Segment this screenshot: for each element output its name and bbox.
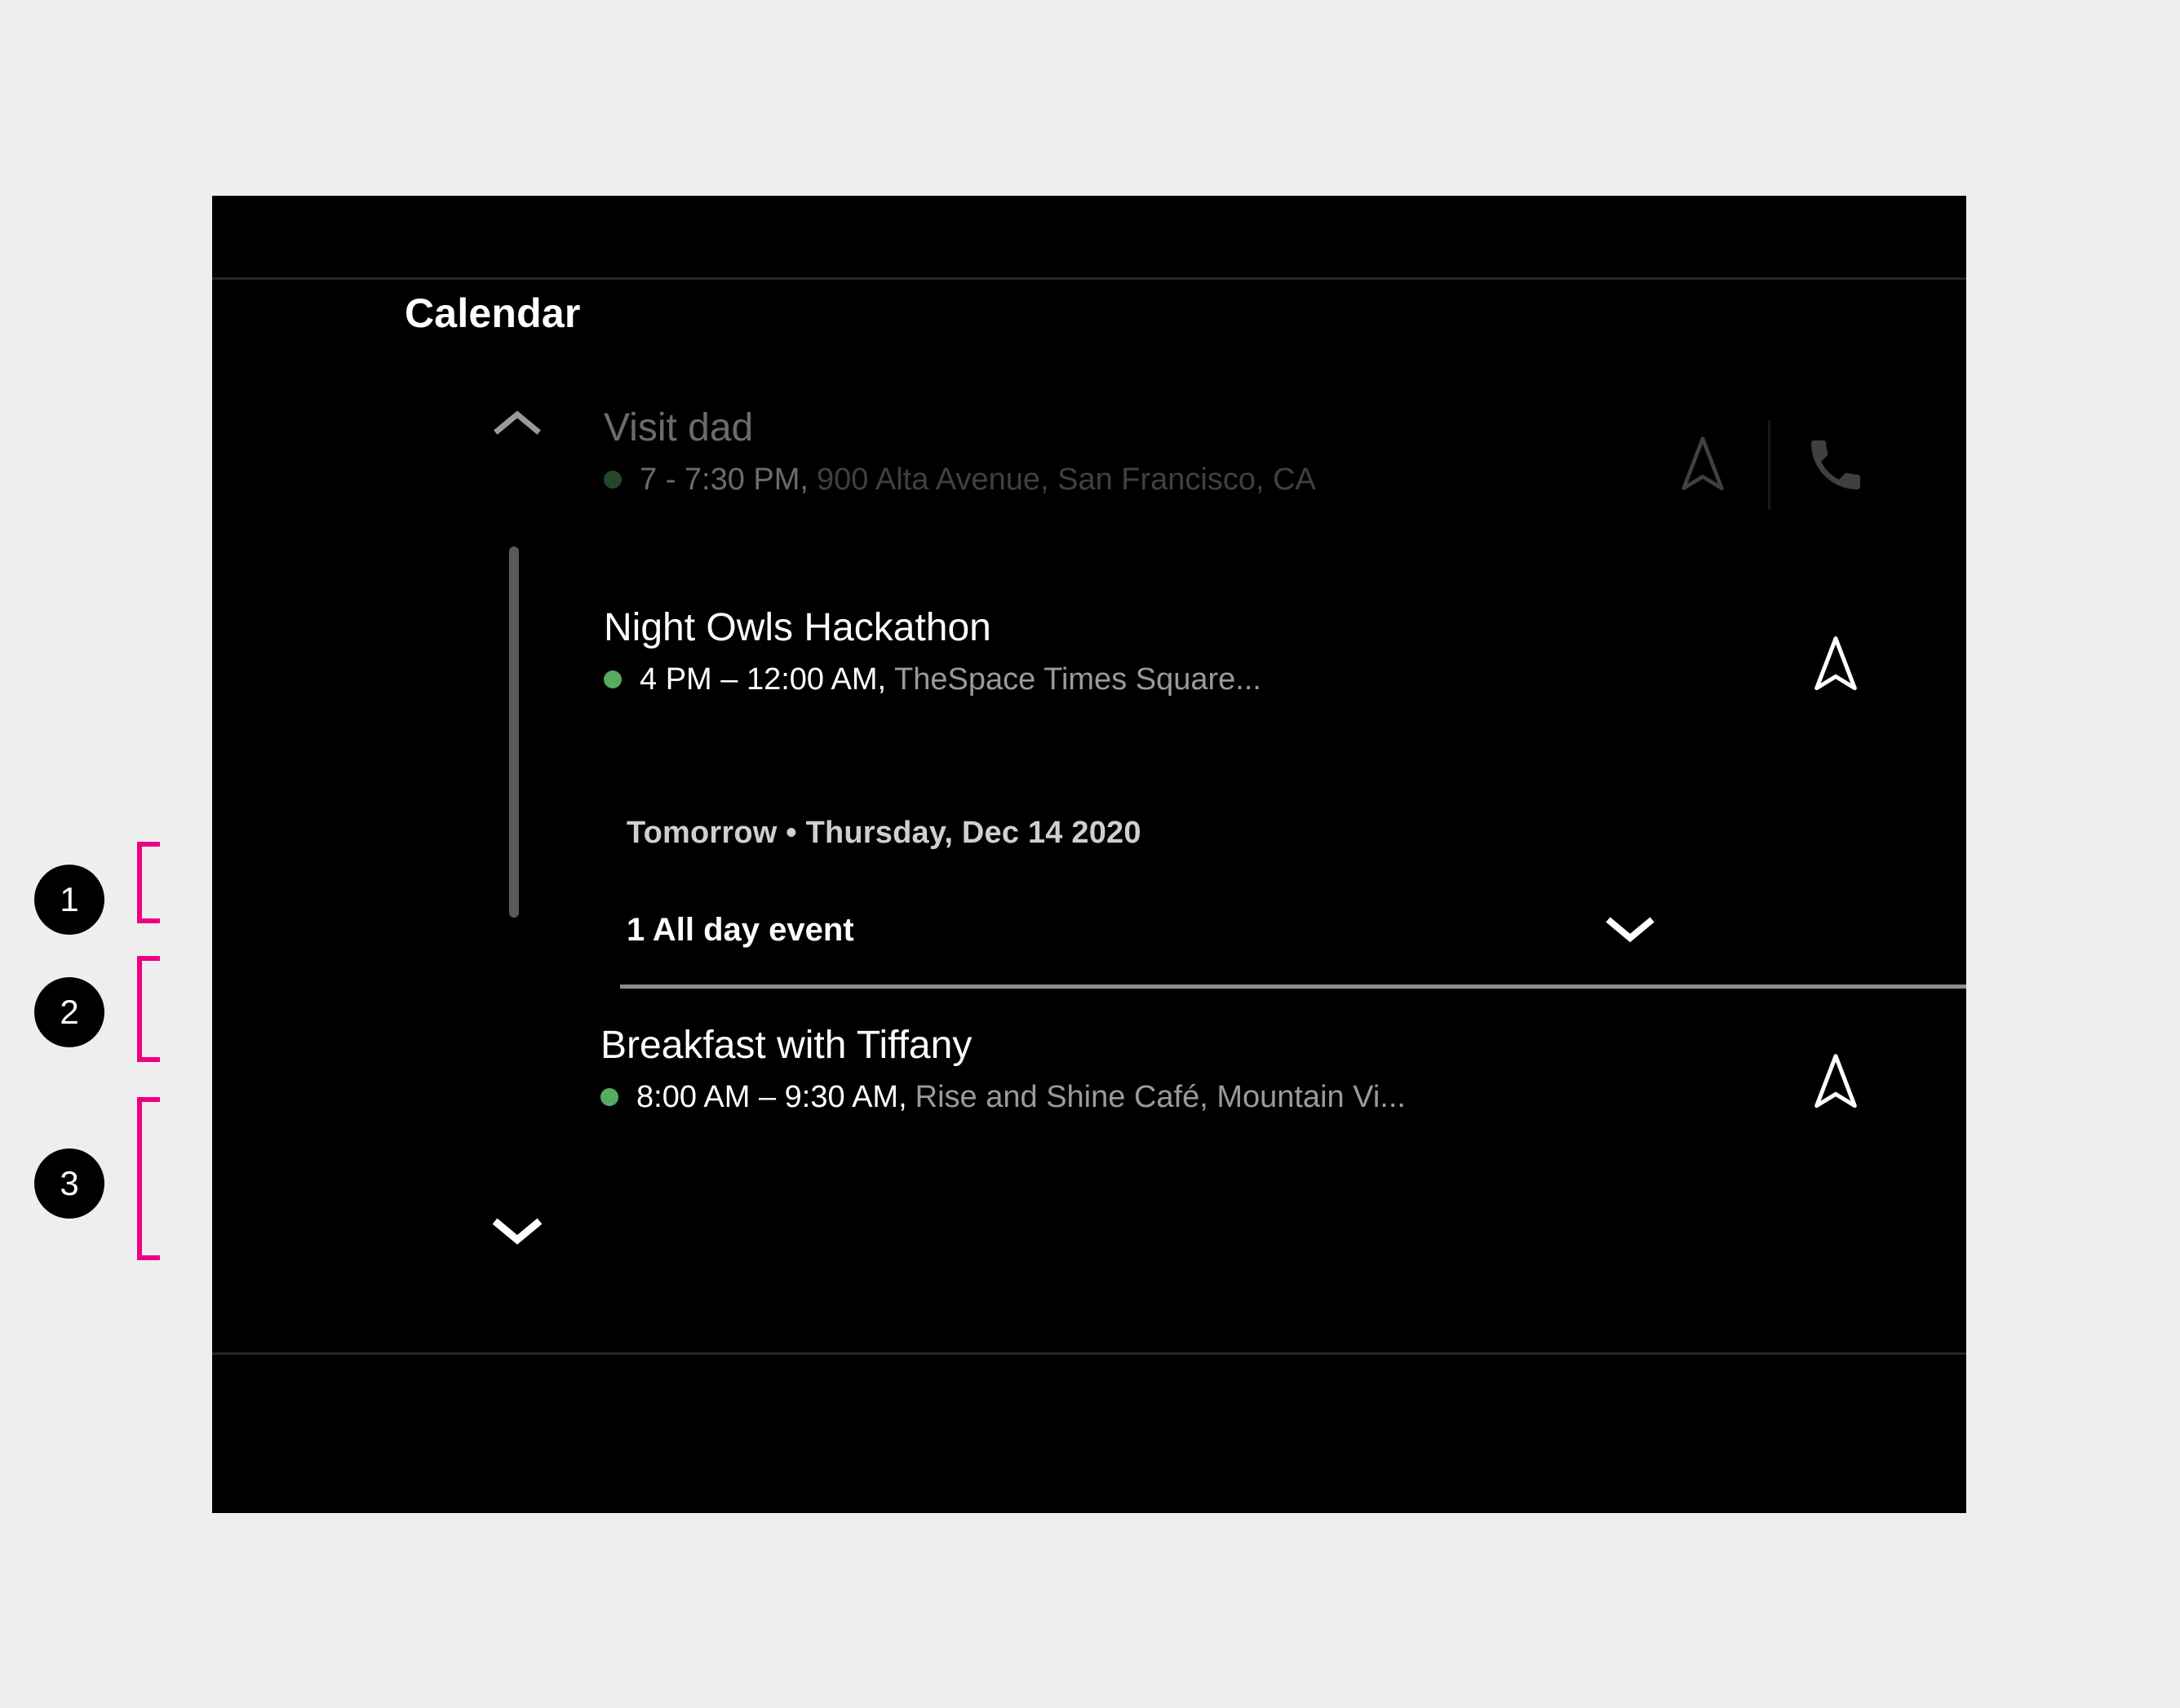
navigate-button[interactable] — [1787, 1033, 1885, 1131]
row-actions — [1787, 1021, 1885, 1144]
phone-icon — [1803, 432, 1868, 498]
event-row[interactable]: Visit dad 7 - 7:30 PM, 900 Alta Avenue, … — [604, 404, 1885, 526]
annotation-badge-1: 1 — [34, 865, 104, 935]
annotation-bracket-3 — [137, 1097, 160, 1260]
event-time: 4 PM – 12:00 AM, — [640, 661, 886, 698]
day-header: Tomorrow • Thursday, Dec 14 2020 — [627, 816, 1141, 851]
event-subtitle: 7 - 7:30 PM, 900 Alta Avenue, San Franci… — [604, 461, 1316, 498]
navigate-button[interactable] — [1787, 616, 1885, 714]
event-subtitle: 8:00 AM – 9:30 AM, Rise and Shine Café, … — [600, 1078, 1406, 1116]
calendar-content: Calendar Visit dad 7 - — [212, 277, 1966, 1352]
event-color-dot — [604, 670, 622, 688]
navigate-button[interactable] — [1654, 416, 1752, 514]
event-subtitle: 4 PM – 12:00 AM, TheSpace Times Square..… — [604, 661, 1261, 698]
event-row[interactable]: Breakfast with Tiffany 8:00 AM – 9:30 AM… — [600, 1021, 1885, 1144]
event-title: Breakfast with Tiffany — [600, 1021, 1406, 1070]
event-time: 7 - 7:30 PM, — [640, 461, 809, 498]
annotation-badge-2: 2 — [34, 977, 104, 1047]
event-place: Rise and Shine Café, Mountain Vi... — [915, 1078, 1406, 1116]
section-divider — [620, 985, 1966, 989]
event-title: Visit dad — [604, 404, 1316, 453]
all-day-event-row[interactable]: 1 All day event — [627, 889, 1803, 971]
event-list: Visit dad 7 - 7:30 PM, 900 Alta Avenue, … — [212, 277, 1966, 1352]
action-divider — [1768, 420, 1770, 510]
navigate-icon — [1801, 1047, 1871, 1117]
event-row[interactable]: Night Owls Hackathon 4 PM – 12:00 AM, Th… — [604, 604, 1885, 726]
annotation-bracket-2 — [137, 956, 160, 1062]
event-texts: Breakfast with Tiffany 8:00 AM – 9:30 AM… — [600, 1021, 1406, 1116]
chevron-down-icon[interactable] — [1604, 914, 1656, 946]
event-place: 900 Alta Avenue, San Francisco, CA — [817, 461, 1316, 498]
event-texts: Night Owls Hackathon 4 PM – 12:00 AM, Th… — [604, 604, 1261, 698]
event-place: TheSpace Times Square... — [894, 661, 1261, 698]
event-color-dot — [604, 471, 622, 489]
event-time: 8:00 AM – 9:30 AM, — [636, 1078, 907, 1116]
annotation-bracket-1 — [137, 842, 160, 923]
row-actions — [1787, 604, 1885, 726]
calendar-panel: Calendar Visit dad 7 - — [212, 196, 1966, 1513]
phone-button[interactable] — [1787, 416, 1885, 514]
event-color-dot — [600, 1088, 618, 1106]
all-day-label: 1 All day event — [627, 912, 854, 949]
event-texts: Visit dad 7 - 7:30 PM, 900 Alta Avenue, … — [604, 404, 1316, 498]
panel-bottom-divider — [212, 1352, 1966, 1355]
navigate-icon — [1801, 630, 1871, 700]
annotation-badge-3: 3 — [34, 1148, 104, 1219]
event-title: Night Owls Hackathon — [604, 604, 1261, 653]
row-actions — [1654, 404, 1885, 526]
navigate-icon — [1668, 430, 1738, 500]
